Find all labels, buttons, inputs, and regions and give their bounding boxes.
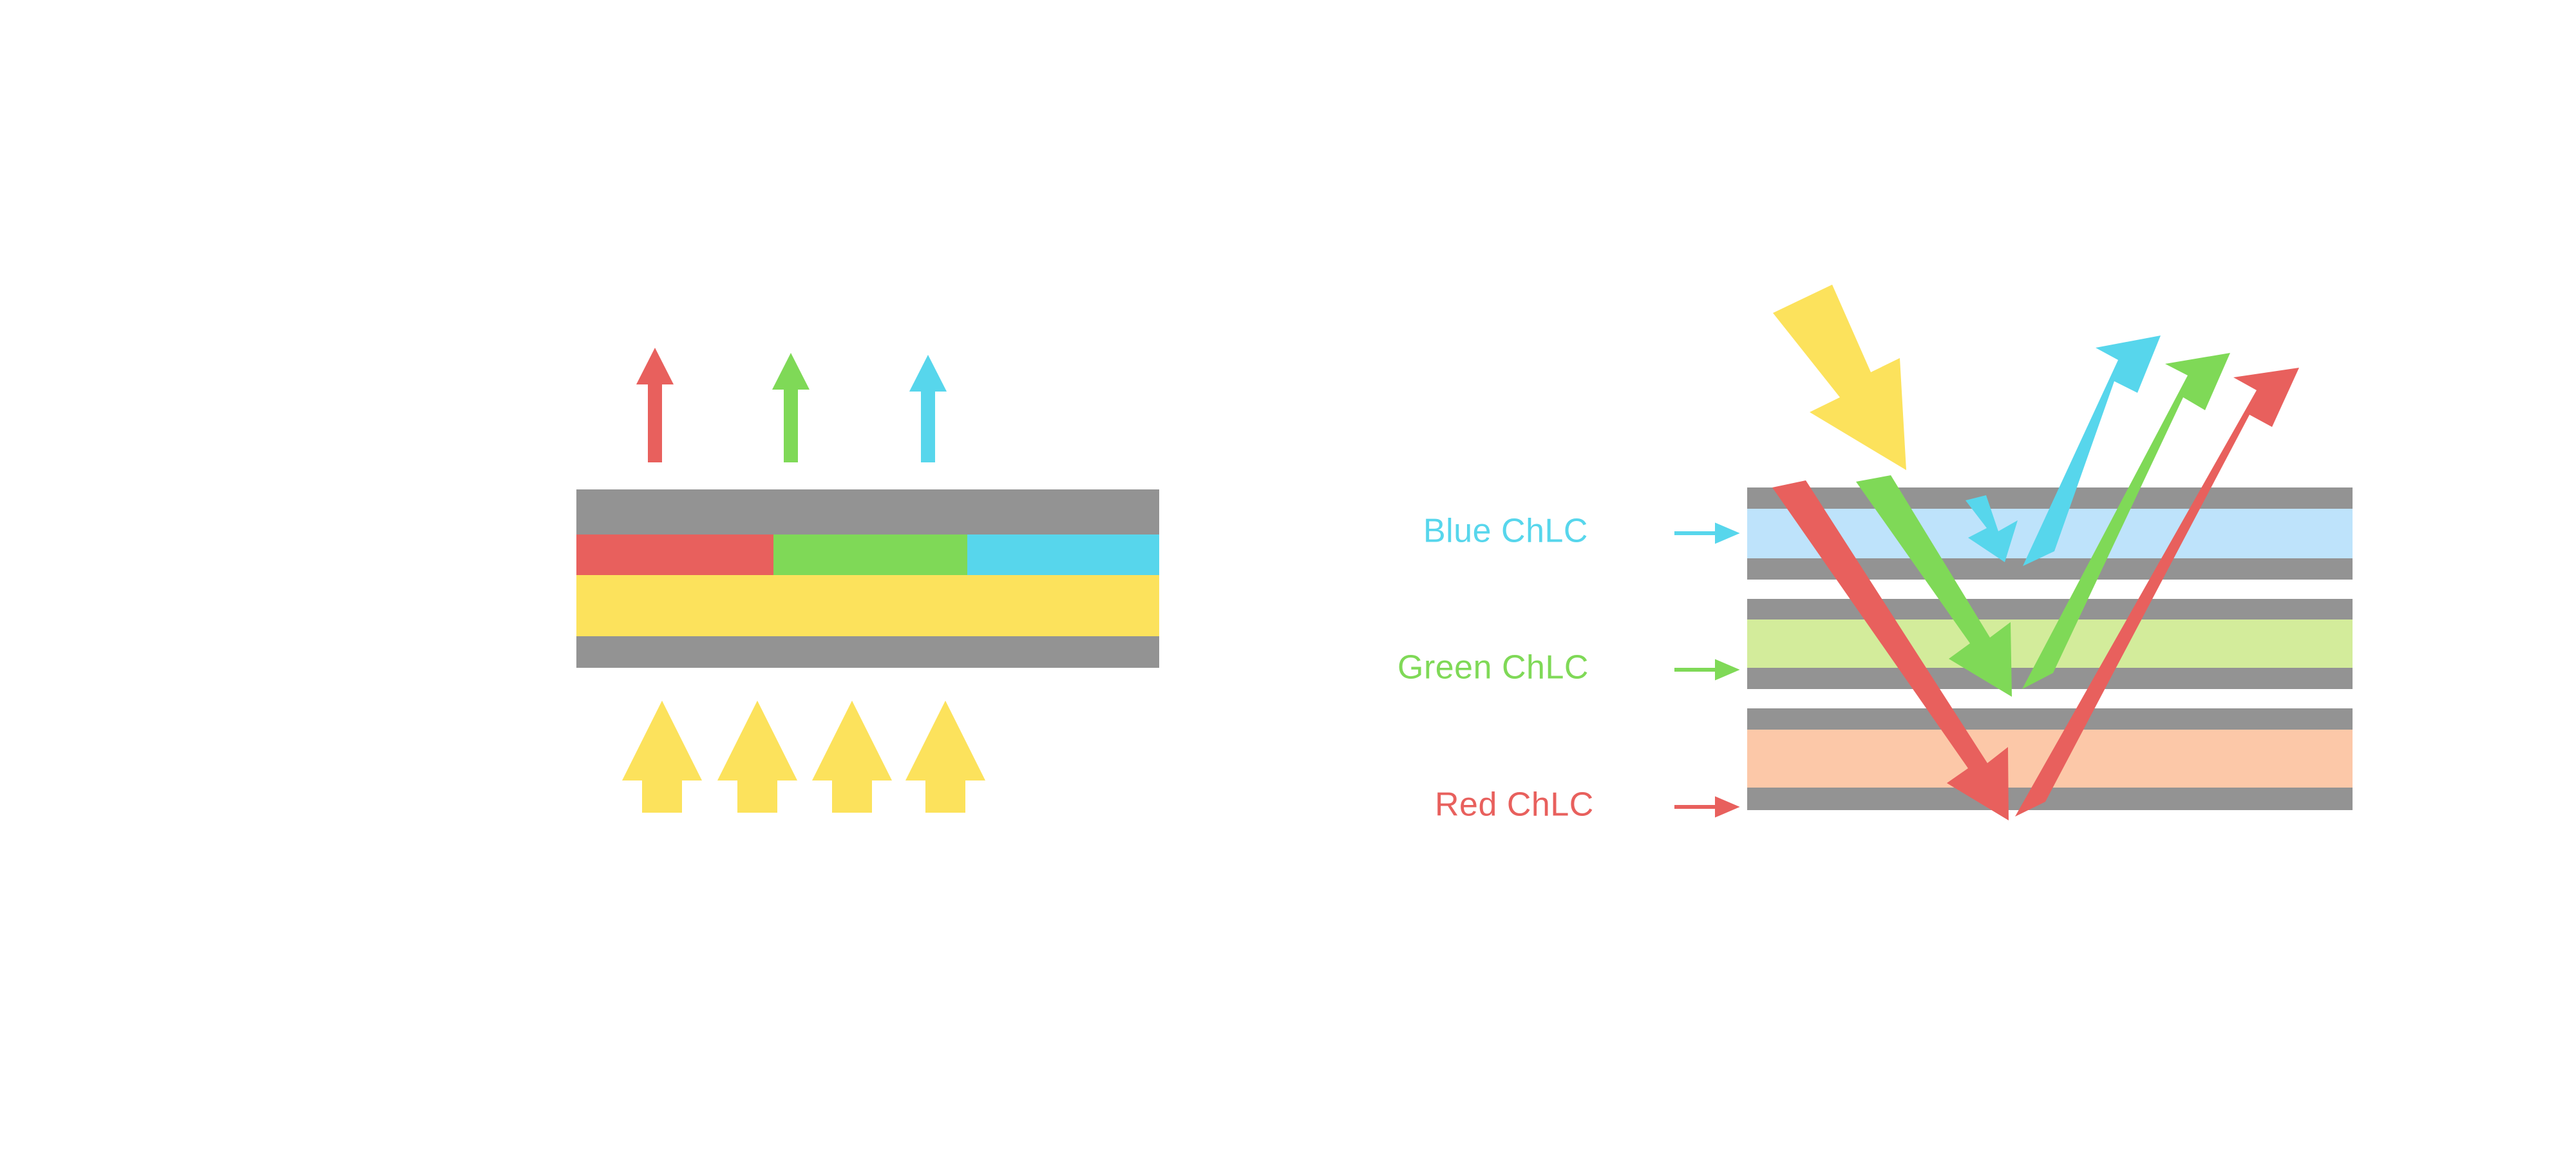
electrode-3: [1747, 599, 2353, 620]
cyan-emission-arrow: [909, 355, 947, 462]
yellow-backlight-layer: [576, 575, 1159, 636]
right-panel-labels: Blue ChLC Green ChLC Red ChLC: [1397, 513, 1735, 824]
blue-chlc-label: Blue ChLC: [1423, 513, 1588, 550]
rgb-color-filter-layer: [576, 534, 1159, 575]
chlc-diagram: Blue ChLC Green ChLC Red ChLC: [0, 0, 2576, 1154]
left-stack: [576, 489, 1159, 668]
electrode-5: [1747, 708, 2353, 730]
blue-chlc-label-arrow-icon: [1674, 525, 1735, 541]
substrate-gap-1: [1747, 580, 2353, 599]
backlight-arrow-3: [812, 701, 892, 813]
red-subpixel: [576, 534, 773, 575]
left-outgoing-arrows: [636, 348, 947, 462]
green-chlc-label-arrow-icon: [1674, 662, 1735, 677]
left-incoming-arrows: [622, 701, 985, 813]
backlight-arrow-4: [905, 701, 985, 813]
diagram-canvas: Blue ChLC Green ChLC Red ChLC: [0, 0, 2576, 1154]
green-subpixel: [773, 534, 967, 575]
substrate-gap-2: [1747, 689, 2353, 708]
bottom-electrode-layer: [576, 636, 1159, 668]
top-electrode-layer: [576, 489, 1159, 534]
electrode-1: [1747, 487, 2353, 509]
green-chlc-label: Green ChLC: [1397, 649, 1589, 686]
red-chlc-label: Red ChLC: [1435, 786, 1594, 824]
ambient-light-arrow: [1773, 285, 1906, 470]
right-panel-group: Blue ChLC Green ChLC Red ChLC: [1397, 285, 2353, 824]
backlight-arrow-2: [717, 701, 797, 813]
blue-subpixel: [967, 534, 1159, 575]
red-emission-arrow: [636, 348, 674, 462]
red-chlc-label-arrow-icon: [1674, 799, 1735, 815]
backlight-arrow-1: [622, 701, 702, 813]
green-emission-arrow: [772, 353, 810, 462]
left-panel-group: [576, 348, 1159, 813]
